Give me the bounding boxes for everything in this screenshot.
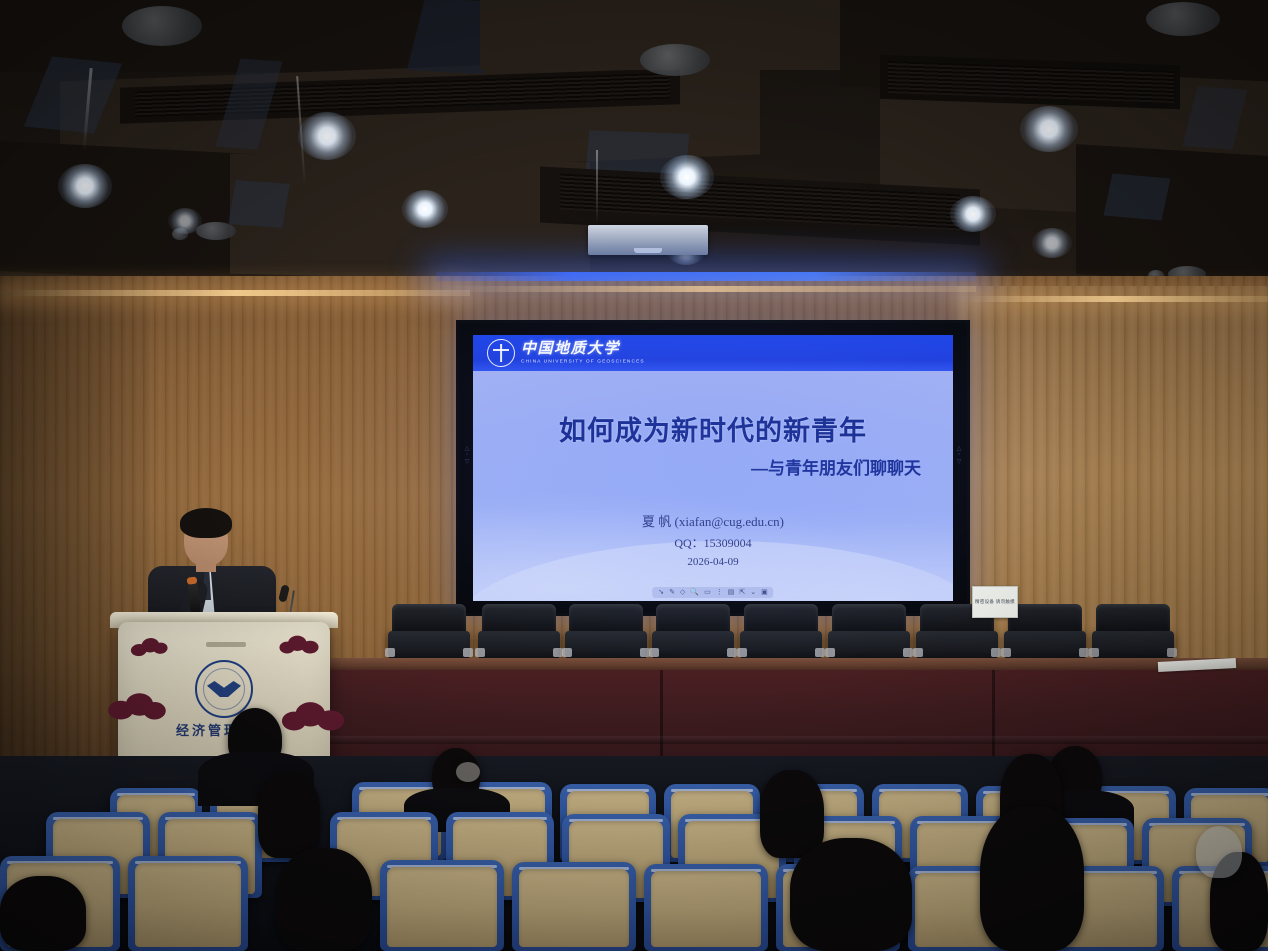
chair-seat: [388, 631, 470, 659]
chevron-down-icon[interactable]: ⌄: [750, 589, 756, 596]
chair-arm: [1079, 648, 1089, 657]
stage-chair: [1092, 604, 1174, 660]
ceiling-speaker: [1146, 2, 1220, 36]
chair-arm: [385, 648, 395, 657]
pen-icon[interactable]: ✎: [669, 589, 675, 596]
chair-back: [1008, 604, 1082, 634]
audience-head: [790, 838, 912, 951]
stage-chair: [478, 604, 560, 660]
cloud-motif-icon: [282, 702, 344, 732]
ceiling-vent-angled: [1104, 173, 1171, 220]
export-icon[interactable]: ⇱: [739, 589, 745, 596]
screen-icon[interactable]: ▭: [704, 589, 711, 596]
audience-face-highlight: [456, 762, 480, 782]
slide-title: 如何成为新时代的新青年: [473, 409, 953, 448]
chair-arm: [463, 648, 473, 657]
powerpoint-presenter-toolbar[interactable]: ➘ ✎ ◇ 🔍 ▭ ⋮ ▤ ⇱ ⌄ ▣: [652, 587, 773, 598]
chair-arm: [562, 648, 572, 657]
screen-control-right: △ ▫ ▽: [955, 445, 963, 465]
university-logo: 中国地质大学 CHINA UNIVERSITY OF GEOSCIENCES: [487, 339, 620, 367]
presentation-slide[interactable]: 中国地质大学 CHINA UNIVERSITY OF GEOSCIENCES 如…: [473, 335, 953, 601]
chair-arm: [727, 648, 737, 657]
cloud-motif-icon: [130, 636, 168, 657]
slide-header-band: 中国地质大学 CHINA UNIVERSITY OF GEOSCIENCES: [473, 335, 953, 371]
audience-head: [760, 770, 824, 858]
cove-light-warm: [960, 296, 1268, 302]
ceiling-speaker: [122, 6, 202, 46]
chair-seat: [740, 631, 822, 659]
wall-sign-text: 精密设备 请勿触摸: [975, 599, 1015, 605]
stage-chair: [565, 604, 647, 660]
chair-arm: [825, 648, 835, 657]
audience-head: [258, 772, 320, 858]
chair-back: [832, 604, 906, 634]
projection-screen[interactable]: △ ▫ ▽ △ ▫ ▽ 中国地质大学 CHINA UNIVERSITY OF G…: [456, 320, 970, 616]
chair-arm: [649, 648, 659, 657]
table-skirt-trim: [330, 736, 1268, 744]
chair-arm: [913, 648, 923, 657]
chair-arm: [815, 648, 825, 657]
presenter-hair: [180, 508, 232, 538]
audience-seat: [128, 856, 248, 951]
ceiling-speaker: [196, 222, 236, 240]
slide-date: 2026-04-09: [473, 556, 953, 568]
logo-english-name: CHINA UNIVERSITY OF GEOSCIENCES: [521, 360, 655, 365]
audience-light-clothing: [1196, 826, 1242, 878]
chair-back: [569, 604, 643, 634]
toolbar-separator: ⋮: [716, 589, 723, 596]
stage-chair: [740, 604, 822, 660]
university-crest-icon: [487, 339, 515, 367]
ceiling-spotlight: [298, 112, 356, 160]
logo-chinese-name: 中国地质大学: [521, 342, 620, 357]
chair-arm: [903, 648, 913, 657]
slide-qq: QQ：15309004: [473, 534, 953, 551]
led-strip-blue: [436, 272, 976, 281]
cloud-motif-icon: [108, 693, 166, 721]
slide-subtitle: —与青年朋友们聊聊天: [751, 454, 921, 479]
chair-arm: [1001, 648, 1011, 657]
audience-head: [980, 806, 1084, 951]
chair-back: [744, 604, 818, 634]
audience-seat: [644, 864, 768, 951]
chair-back: [482, 604, 556, 634]
stage-chair: [388, 604, 470, 660]
ceiling-spotlight: [1032, 228, 1072, 258]
chair-back: [656, 604, 730, 634]
audience-seat: [380, 860, 504, 951]
notes-icon[interactable]: ▤: [728, 589, 735, 596]
presenter-view-icon[interactable]: ▣: [761, 589, 768, 596]
ceiling-spotlight: [58, 164, 112, 208]
podium-nameplate: [206, 642, 246, 647]
audience-head: [0, 876, 86, 951]
zoom-icon[interactable]: 🔍: [690, 589, 699, 596]
ceiling-projector: [588, 225, 708, 255]
bird-emblem-icon: [207, 681, 241, 697]
ceiling-speaker: [640, 44, 710, 76]
chair-back: [392, 604, 466, 634]
chair-back: [1096, 604, 1170, 634]
equipment-warning-sign: 精密设备 请勿触摸: [972, 586, 1018, 618]
chair-arm: [475, 648, 485, 657]
chair-seat: [565, 631, 647, 659]
chair-arm: [991, 648, 1001, 657]
chair-arm: [1167, 648, 1177, 657]
ceiling-edge: [596, 150, 598, 224]
ceiling-spotlight: [1020, 106, 1078, 152]
chair-arm: [1089, 648, 1099, 657]
ceiling-spotlight: [660, 155, 714, 199]
stage-chair: [828, 604, 910, 660]
highlighter-icon[interactable]: ◇: [680, 589, 685, 596]
stage-chair: [652, 604, 734, 660]
slide-presenter: 夏 帆 (xiafan@cug.edu.cn): [473, 511, 953, 530]
chair-seat: [652, 631, 734, 659]
audience-head: [276, 848, 372, 951]
ceiling-spotlight: [402, 190, 448, 228]
audience-seat: [512, 862, 636, 951]
chair-seat: [478, 631, 560, 659]
chair-seat: [1092, 631, 1174, 659]
screen-control-left: △ ▫ ▽: [463, 445, 471, 465]
cove-light-warm: [0, 290, 470, 296]
ceiling-spotlight: [168, 208, 202, 234]
cloud-motif-icon: [279, 636, 318, 655]
auditorium-photo-scene: △ ▫ ▽ △ ▫ ▽ 中国地质大学 CHINA UNIVERSITY OF G…: [0, 0, 1268, 951]
chair-seat: [1004, 631, 1086, 659]
ceiling-spotlight: [950, 196, 996, 232]
pointer-icon[interactable]: ➘: [658, 589, 664, 596]
cove-light-warm: [436, 286, 976, 292]
chair-seat: [916, 631, 998, 659]
chair-arm: [737, 648, 747, 657]
ceiling-vent-angled: [228, 180, 290, 228]
chair-seat: [828, 631, 910, 659]
